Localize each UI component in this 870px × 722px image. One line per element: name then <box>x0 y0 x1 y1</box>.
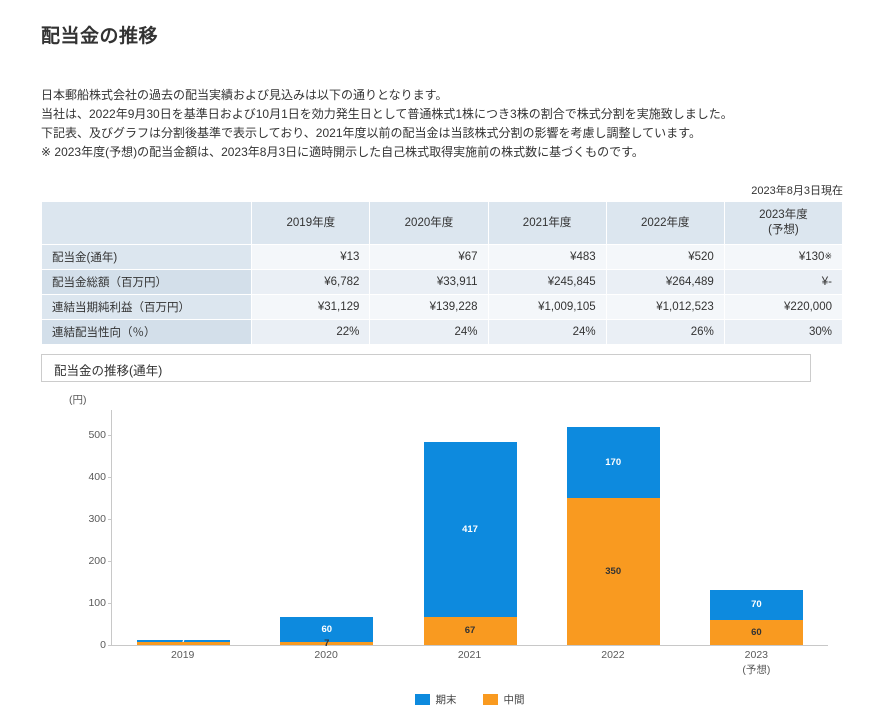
cell-payout-ratio-2020: 24% <box>370 320 488 345</box>
row-label-net-income: 連結当期純利益（百万円） <box>42 295 252 320</box>
y-axis-tick-500: 500 <box>88 429 106 441</box>
table-row: 連結配当性向（％） 22% 24% 24% 26% 30% <box>42 320 843 345</box>
table-header-2023-sub: (予想) <box>768 224 799 236</box>
cell-payout-ratio-2023: 30% <box>724 320 842 345</box>
bar-value-label: 170 <box>605 458 621 468</box>
y-axis-tick-mark <box>108 477 112 478</box>
cell-dividend-total-2023: ¥- <box>724 270 842 295</box>
cell-payout-ratio-2022: 26% <box>606 320 724 345</box>
x-axis-label-2019: 2019 <box>111 648 254 678</box>
x-axis-label-sub: (予想) <box>685 663 828 678</box>
bar-value-label: 60 <box>751 628 762 638</box>
footnote-mark: ※ <box>824 251 832 261</box>
y-axis-tick-mark <box>108 645 112 646</box>
legend-item-中間[interactable]: 中間 <box>483 692 525 707</box>
y-axis-tick-200: 200 <box>88 555 106 567</box>
row-label-dividend-annual: 配当金(通年) <box>42 245 252 270</box>
intro-line-3: 下記表、及びグラフは分割後基準で表示しており、2021年度以前の配当金は当該株式… <box>41 124 841 143</box>
bar-value-label: 67 <box>465 626 476 636</box>
intro-line-4: ※ 2023年度(予想)の配当金額は、2023年8月3日に適時開示した自己株式取… <box>41 143 841 162</box>
dividend-table: 2019年度 2020年度 2021年度 2022年度 2023年度 (予想) … <box>41 201 843 345</box>
x-axis-label-2020: 2020 <box>254 648 397 678</box>
y-axis-tick-400: 400 <box>88 471 106 483</box>
legend-swatch-icon <box>415 694 430 705</box>
table-header-2023: 2023年度 (予想) <box>724 202 842 245</box>
chart-plot-area: 7607417671703507060 0100200300400500 <box>111 410 828 646</box>
bar-segment-kimatsu-2021[interactable]: 417 <box>424 442 517 617</box>
cell-dividend-annual-2022: ¥520 <box>606 245 724 270</box>
bar-segment-chukan-2022[interactable]: 350 <box>567 498 660 645</box>
cell-net-income-2021: ¥1,009,105 <box>488 295 606 320</box>
table-header-blank <box>42 202 252 245</box>
bar-segment-kimatsu-2023[interactable]: 70 <box>710 590 803 619</box>
chart-bars: 7607417671703507060 <box>112 410 828 645</box>
table-header-2019: 2019年度 <box>252 202 370 245</box>
bar-segment-chukan-2020[interactable]: 7 <box>280 642 373 645</box>
dividend-bar-chart: (円) 7607417671703507060 0100200300400500… <box>41 392 841 712</box>
x-axis-labels: 20192020202120222023(予想) <box>111 648 828 678</box>
y-axis-tick-mark <box>108 603 112 604</box>
bar-value-label: 60 <box>322 625 333 635</box>
table-header-row: 2019年度 2020年度 2021年度 2022年度 2023年度 (予想) <box>42 202 843 245</box>
y-axis-tick-mark <box>108 519 112 520</box>
table-header-2022: 2022年度 <box>606 202 724 245</box>
cell-net-income-2022: ¥1,012,523 <box>606 295 724 320</box>
cell-payout-ratio-2021: 24% <box>488 320 606 345</box>
bar-stack[interactable]: 7 <box>137 640 230 645</box>
cell-net-income-2020: ¥139,228 <box>370 295 488 320</box>
x-axis-label-year: 2019 <box>171 649 194 661</box>
table-header: 2019年度 2020年度 2021年度 2022年度 2023年度 (予想) <box>42 202 843 245</box>
table-row: 配当金総額（百万円） ¥6,782 ¥33,911 ¥245,845 ¥264,… <box>42 270 843 295</box>
x-axis-label-year: 2021 <box>458 649 481 661</box>
intro-line-2: 当社は、2022年9月30日を基準日および10月1日を効力発生日として普通株式1… <box>41 105 841 124</box>
page-title: 配当金の推移 <box>41 21 158 48</box>
cell-net-income-2019: ¥31,129 <box>252 295 370 320</box>
x-axis-label-year: 2020 <box>314 649 337 661</box>
legend-label: 期末 <box>436 692 457 707</box>
bar-group-2021[interactable]: 41767 <box>398 410 541 645</box>
x-axis-label-2022: 2022 <box>541 648 684 678</box>
cell-dividend-total-2019: ¥6,782 <box>252 270 370 295</box>
legend-item-期末[interactable]: 期末 <box>415 692 457 707</box>
bar-segment-chukan-2019[interactable] <box>137 642 230 645</box>
chart-title-box: 配当金の推移(通年) <box>41 354 811 382</box>
dividend-history-page: 配当金の推移 日本郵船株式会社の過去の配当実績および見込みは以下の通りとなります… <box>0 0 870 722</box>
x-axis-label-2021: 2021 <box>398 648 541 678</box>
cell-dividend-total-2021: ¥245,845 <box>488 270 606 295</box>
y-axis-unit-label: (円) <box>69 392 87 407</box>
bar-segment-chukan-2021[interactable]: 67 <box>424 617 517 645</box>
y-axis-tick-mark <box>108 561 112 562</box>
chart-title: 配当金の推移(通年) <box>54 360 162 379</box>
chart-legend: 期末中間 <box>111 692 828 707</box>
y-axis-tick-mark <box>108 435 112 436</box>
y-axis-tick-0: 0 <box>100 639 106 651</box>
bar-group-2019[interactable]: 7 <box>112 410 255 645</box>
bar-stack[interactable]: 170350 <box>567 427 660 645</box>
bar-group-2022[interactable]: 170350 <box>542 410 685 645</box>
cell-dividend-annual-2019: ¥13 <box>252 245 370 270</box>
intro-line-1: 日本郵船株式会社の過去の配当実績および見込みは以下の通りとなります。 <box>41 86 841 105</box>
legend-label: 中間 <box>504 692 525 707</box>
cell-value: ¥130 <box>799 251 825 263</box>
table-header-2023-year: 2023年度 <box>759 209 808 221</box>
bar-value-label: 7 <box>324 639 329 649</box>
table-body: 配当金(通年) ¥13 ¥67 ¥483 ¥520 ¥130※ 配当金総額（百万… <box>42 245 843 345</box>
bar-stack[interactable]: 607 <box>280 617 373 645</box>
row-label-payout-ratio: 連結配当性向（％） <box>42 320 252 345</box>
table-row: 連結当期純利益（百万円） ¥31,129 ¥139,228 ¥1,009,105… <box>42 295 843 320</box>
cell-dividend-total-2022: ¥264,489 <box>606 270 724 295</box>
cell-dividend-total-2020: ¥33,911 <box>370 270 488 295</box>
bar-segment-chukan-2023[interactable]: 60 <box>710 620 803 645</box>
bar-stack[interactable]: 41767 <box>424 442 517 645</box>
intro-paragraph: 日本郵船株式会社の過去の配当実績および見込みは以下の通りとなります。 当社は、2… <box>41 86 841 162</box>
bar-value-label: 417 <box>462 525 478 535</box>
cell-dividend-annual-2023: ¥130※ <box>724 245 842 270</box>
cell-dividend-annual-2020: ¥67 <box>370 245 488 270</box>
cell-net-income-2023: ¥220,000 <box>724 295 842 320</box>
y-axis-tick-100: 100 <box>88 597 106 609</box>
bar-stack[interactable]: 7060 <box>710 590 803 645</box>
bar-value-label: 350 <box>605 567 621 577</box>
bar-value-label: 70 <box>751 600 762 610</box>
legend-swatch-icon <box>483 694 498 705</box>
table-header-2020: 2020年度 <box>370 202 488 245</box>
table-header-2021: 2021年度 <box>488 202 606 245</box>
x-axis-label-year: 2022 <box>601 649 624 661</box>
table-row: 配当金(通年) ¥13 ¥67 ¥483 ¥520 ¥130※ <box>42 245 843 270</box>
x-axis-label-year: 2023 <box>745 649 768 661</box>
bar-group-2023[interactable]: 7060 <box>685 410 828 645</box>
dividend-table-wrapper: 2019年度 2020年度 2021年度 2022年度 2023年度 (予想) … <box>41 201 843 345</box>
y-axis-tick-300: 300 <box>88 513 106 525</box>
cell-dividend-annual-2021: ¥483 <box>488 245 606 270</box>
row-label-dividend-total: 配当金総額（百万円） <box>42 270 252 295</box>
cell-payout-ratio-2019: 22% <box>252 320 370 345</box>
x-axis-label-2023: 2023(予想) <box>685 648 828 678</box>
bar-group-2020[interactable]: 607 <box>255 410 398 645</box>
as-of-date-note: 2023年8月3日現在 <box>751 182 843 198</box>
bar-segment-kimatsu-2022[interactable]: 170 <box>567 427 660 498</box>
